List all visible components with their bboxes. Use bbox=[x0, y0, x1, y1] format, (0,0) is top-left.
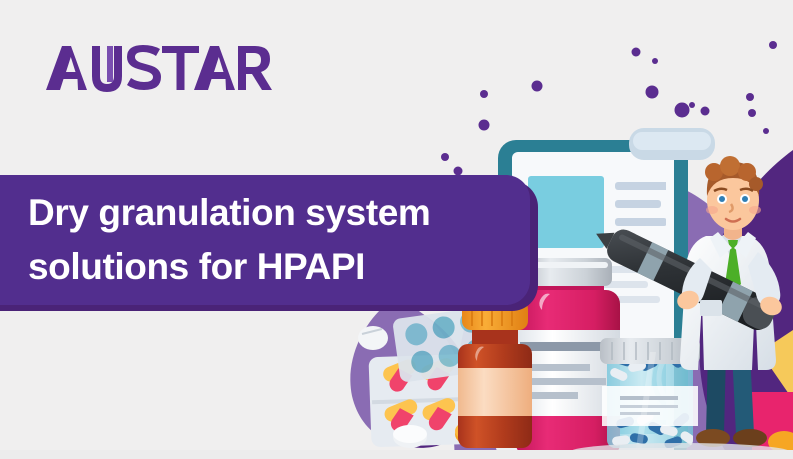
austar-logo-mark bbox=[44, 44, 274, 92]
syrup-label bbox=[458, 368, 532, 416]
title-card: Dry granulation system solutions for HPA… bbox=[0, 175, 530, 305]
title-plate: Dry granulation system solutions for HPA… bbox=[0, 175, 530, 305]
doctor-shoe-right bbox=[733, 429, 767, 447]
amber-syrup-bottle bbox=[458, 292, 532, 448]
title-line-2: solutions for HPAPI bbox=[28, 240, 530, 294]
promotional-banner: Dry granulation system solutions for HPA… bbox=[0, 0, 793, 459]
title-line-1: Dry granulation system bbox=[28, 186, 530, 240]
austar-logo[interactable] bbox=[44, 44, 274, 92]
page-image-block bbox=[528, 176, 604, 248]
